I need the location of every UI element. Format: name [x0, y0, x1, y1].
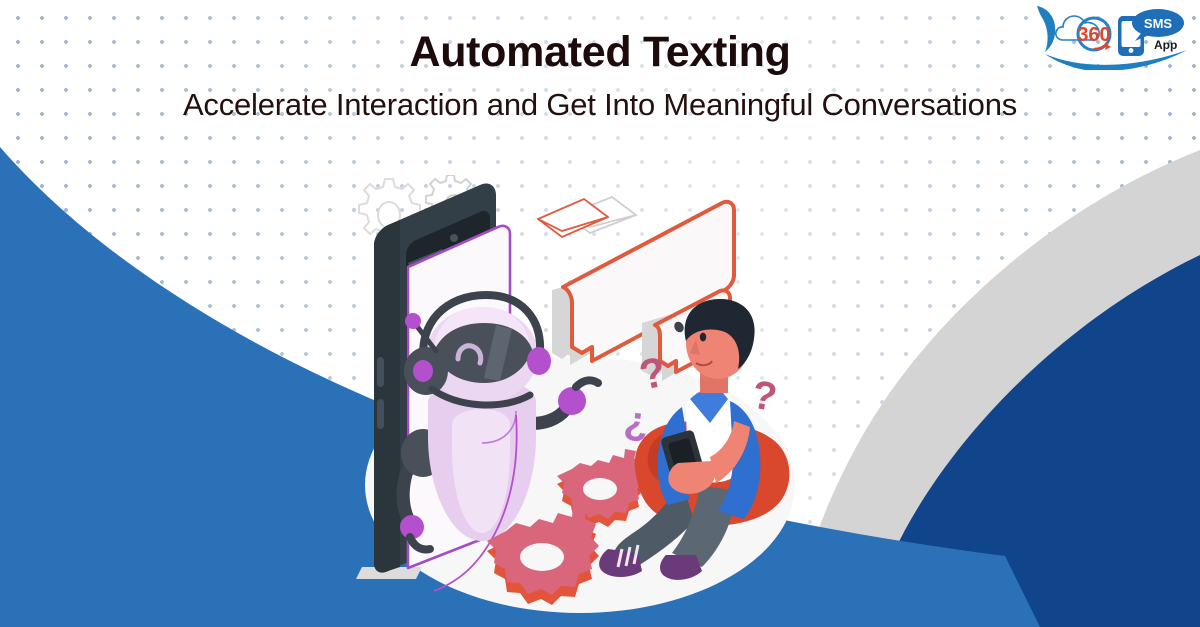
logo-360-text: 360 — [1077, 24, 1110, 46]
gear-solid-small-hole — [583, 478, 617, 500]
robot-earcup-right — [527, 347, 551, 375]
logo-phone-home-icon — [1129, 48, 1134, 53]
logo-swoosh-bottom-icon — [1045, 50, 1187, 70]
person-eye-icon — [700, 333, 706, 342]
logo-swoosh-top-icon — [1037, 6, 1055, 52]
gear-solid-large-hole — [520, 543, 564, 571]
360-sms-app-logo[interactable]: 360 SMS App — [1027, 4, 1192, 70]
logo-app-text: App — [1154, 38, 1177, 52]
automated-texting-illustration: ? ¿ ? — [330, 175, 870, 627]
page-subtitle: Accelerate Interaction and Get Into Mean… — [0, 87, 1200, 123]
phone-volume-button-2[interactable] — [377, 399, 384, 429]
phone-camera-icon — [450, 234, 458, 242]
robot-earcup-left-inner — [413, 360, 433, 382]
question-mark-3: ? — [748, 373, 780, 421]
phone-volume-button-1[interactable] — [377, 357, 384, 387]
robot-right-hand — [558, 387, 586, 415]
marketing-banner: Automated Texting Accelerate Interaction… — [0, 0, 1200, 627]
page-title: Automated Texting — [0, 30, 1200, 75]
banner-text-block: Automated Texting Accelerate Interaction… — [0, 30, 1200, 123]
phone-side-edge — [374, 220, 400, 573]
robot-antenna-tip-icon — [405, 313, 421, 329]
logo-sms-text: SMS — [1144, 16, 1173, 31]
